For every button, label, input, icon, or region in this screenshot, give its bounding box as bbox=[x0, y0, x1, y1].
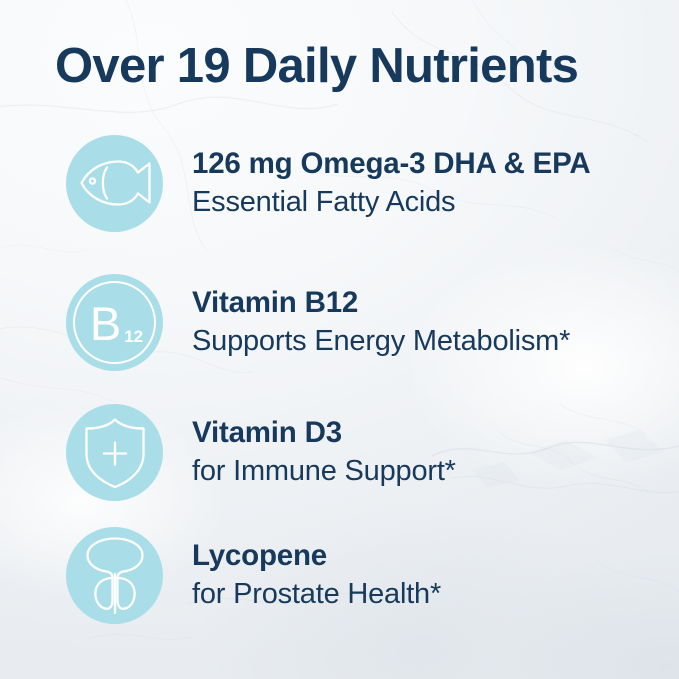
nutrient-headline: 126 mg Omega-3 DHA & EPA bbox=[192, 145, 679, 183]
b12-letter: B bbox=[90, 300, 121, 347]
nutrient-text-lycopene: Lycopene for Prostate Health* bbox=[192, 537, 679, 613]
prostate-icon bbox=[81, 534, 149, 616]
b12-vitamin-icon: B 12 bbox=[90, 300, 143, 347]
nutrient-row-omega3: 126 mg Omega-3 DHA & EPA Essential Fatty… bbox=[0, 133, 679, 233]
page-title: Over 19 Daily Nutrients bbox=[55, 38, 655, 94]
b12-vitamin-icon-badge: B 12 bbox=[66, 274, 163, 371]
nutrient-text-omega3: 126 mg Omega-3 DHA & EPA Essential Fatty… bbox=[192, 145, 679, 221]
nutrient-headline: Vitamin D3 bbox=[192, 414, 679, 452]
prostate-icon-badge bbox=[66, 527, 163, 624]
nutrient-subline: Supports Energy Metabolism* bbox=[192, 322, 679, 360]
fish-icon-badge bbox=[66, 135, 163, 232]
nutrient-headline: Lycopene bbox=[192, 537, 679, 575]
nutrient-row-d3: Vitamin D3 for Immune Support* bbox=[0, 402, 679, 502]
fish-icon bbox=[76, 155, 154, 211]
b12-subscript: 12 bbox=[124, 328, 143, 345]
nutrient-subline: Essential Fatty Acids bbox=[192, 183, 679, 221]
infographic-canvas: Over 19 Daily Nutrients 126 mg Omega-3 D… bbox=[0, 0, 679, 679]
nutrient-subline: for Immune Support* bbox=[192, 452, 679, 490]
shield-plus-icon bbox=[82, 414, 148, 490]
nutrient-row-b12: B 12 Vitamin B12 Supports Energy Metabol… bbox=[0, 272, 679, 372]
nutrient-subline: for Prostate Health* bbox=[192, 575, 679, 613]
shield-plus-icon-badge bbox=[66, 404, 163, 501]
nutrient-row-lycopene: Lycopene for Prostate Health* bbox=[0, 525, 679, 625]
nutrient-text-d3: Vitamin D3 for Immune Support* bbox=[192, 414, 679, 490]
nutrient-text-b12: Vitamin B12 Supports Energy Metabolism* bbox=[192, 284, 679, 360]
nutrient-headline: Vitamin B12 bbox=[192, 284, 679, 322]
